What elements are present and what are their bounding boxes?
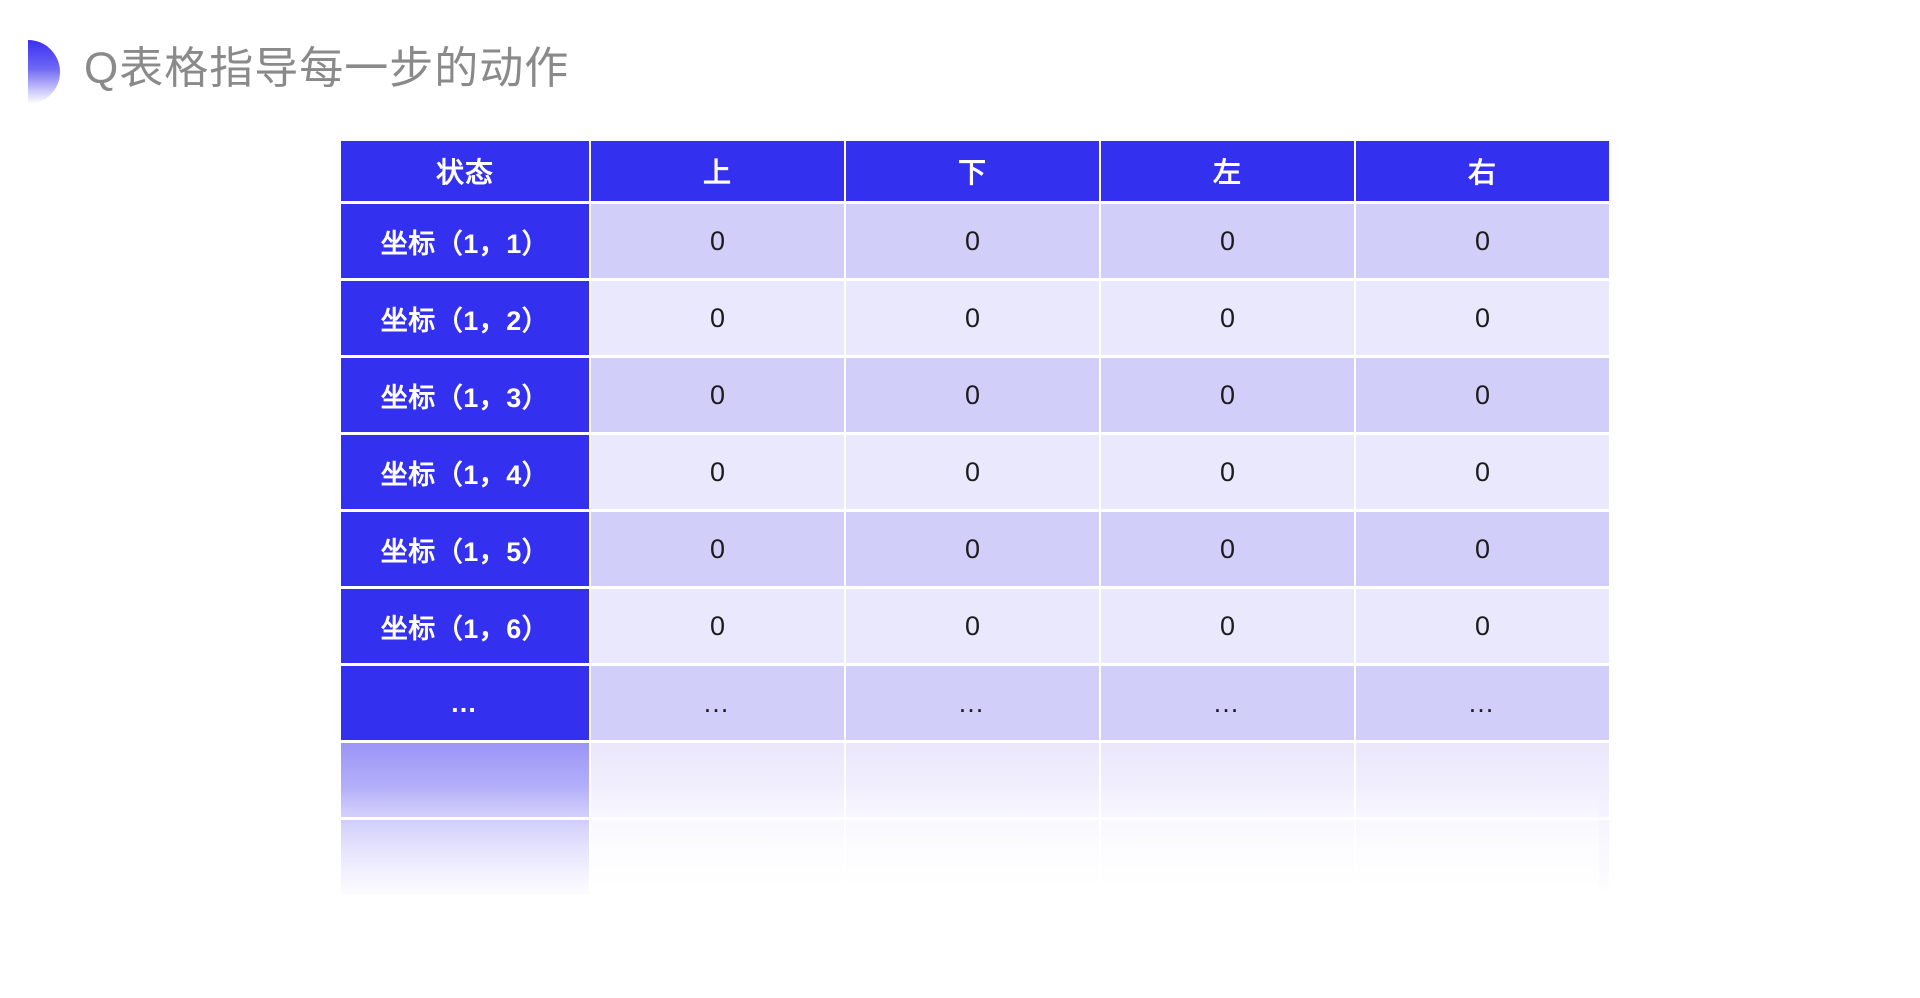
cell-state [341, 743, 589, 817]
table-row: 坐标（1，2）0000 [341, 281, 1609, 355]
column-header-right: 右 [1356, 141, 1609, 201]
cell-q-up: 0 [591, 512, 844, 586]
column-header-up: 上 [591, 141, 844, 201]
cell-q-down: 0 [846, 358, 1099, 432]
q-table: 状态 上 下 左 右 坐标（1，1）0000坐标（1，2）0000坐标（1，3）… [339, 138, 1611, 897]
cell-state: … [341, 666, 589, 740]
column-header-left: 左 [1101, 141, 1354, 201]
q-table-body: 坐标（1，1）0000坐标（1，2）0000坐标（1，3）0000坐标（1，4）… [341, 204, 1609, 894]
cell-state: 坐标（1，2） [341, 281, 589, 355]
cell-q-down [846, 820, 1099, 894]
cell-state: 坐标（1，4） [341, 435, 589, 509]
cell-q-right: 0 [1356, 589, 1609, 663]
cell-q-left: … [1101, 666, 1354, 740]
q-table-container: 状态 上 下 左 右 坐标（1，1）0000坐标（1，2）0000坐标（1，3）… [339, 138, 1599, 897]
cell-q-left: 0 [1101, 589, 1354, 663]
table-row-faded [341, 743, 1609, 817]
cell-q-up: … [591, 666, 844, 740]
cell-q-right: 0 [1356, 281, 1609, 355]
table-row: 坐标（1，6）0000 [341, 589, 1609, 663]
cell-q-up: 0 [591, 281, 844, 355]
cell-q-down: … [846, 666, 1099, 740]
cell-q-left: 0 [1101, 512, 1354, 586]
cell-q-right: 0 [1356, 358, 1609, 432]
slide-header: Q表格指导每一步的动作 [0, 0, 1920, 150]
column-header-state: 状态 [341, 141, 589, 201]
cell-q-right [1356, 820, 1609, 894]
table-row-faded [341, 820, 1609, 894]
cell-q-left: 0 [1101, 281, 1354, 355]
table-row: 坐标（1，5）0000 [341, 512, 1609, 586]
table-row: 坐标（1，4）0000 [341, 435, 1609, 509]
cell-state: 坐标（1，3） [341, 358, 589, 432]
cell-q-right: 0 [1356, 512, 1609, 586]
cell-q-left: 0 [1101, 358, 1354, 432]
cell-q-up [591, 743, 844, 817]
cell-q-left: 0 [1101, 204, 1354, 278]
cell-q-left [1101, 820, 1354, 894]
cell-q-up: 0 [591, 204, 844, 278]
title-decoration-halfcircle-icon [28, 40, 60, 104]
cell-q-right: … [1356, 666, 1609, 740]
cell-q-up: 0 [591, 435, 844, 509]
q-table-header: 状态 上 下 左 右 [341, 141, 1609, 201]
table-row: …………… [341, 666, 1609, 740]
table-header-row: 状态 上 下 左 右 [341, 141, 1609, 201]
cell-q-right: 0 [1356, 435, 1609, 509]
cell-state: 坐标（1，5） [341, 512, 589, 586]
cell-q-up: 0 [591, 589, 844, 663]
cell-state [341, 820, 589, 894]
cell-q-right [1356, 743, 1609, 817]
cell-q-down: 0 [846, 281, 1099, 355]
cell-q-up [591, 820, 844, 894]
table-row: 坐标（1，1）0000 [341, 204, 1609, 278]
cell-state: 坐标（1，6） [341, 589, 589, 663]
cell-q-down: 0 [846, 435, 1099, 509]
cell-q-right: 0 [1356, 204, 1609, 278]
cell-state: 坐标（1，1） [341, 204, 589, 278]
column-header-down: 下 [846, 141, 1099, 201]
table-row: 坐标（1，3）0000 [341, 358, 1609, 432]
cell-q-down: 0 [846, 204, 1099, 278]
cell-q-down: 0 [846, 589, 1099, 663]
cell-q-up: 0 [591, 358, 844, 432]
cell-q-down [846, 743, 1099, 817]
page-title: Q表格指导每一步的动作 [84, 35, 569, 103]
cell-q-left [1101, 743, 1354, 817]
cell-q-down: 0 [846, 512, 1099, 586]
cell-q-left: 0 [1101, 435, 1354, 509]
